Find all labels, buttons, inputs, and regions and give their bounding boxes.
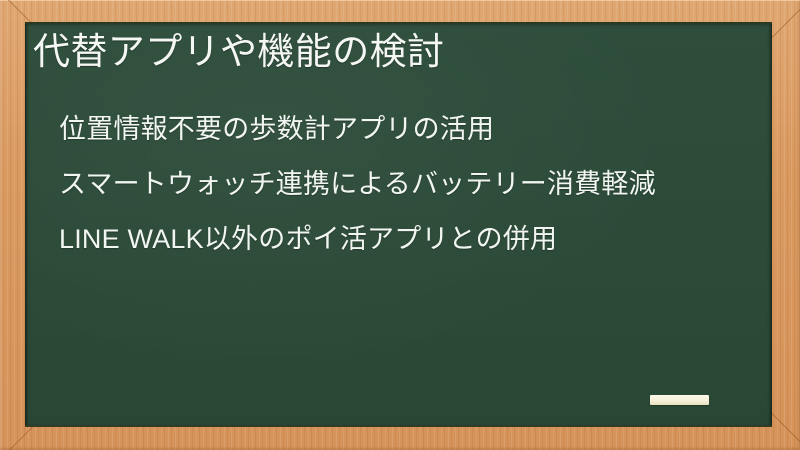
bullet-list: 位置情報不要の歩数計アプリの活用 スマートウォッチ連携によるバッテリー消費軽減 … [59, 102, 656, 267]
chalkboard-surface: 代替アプリや機能の検討 位置情報不要の歩数計アプリの活用 スマートウォッチ連携に… [25, 22, 772, 427]
list-item: スマートウォッチ連携によるバッテリー消費軽減 [59, 157, 656, 212]
list-item: 位置情報不要の歩数計アプリの活用 [59, 102, 656, 157]
list-item: LINE WALK以外のポイ活アプリとの併用 [59, 212, 656, 267]
chalkboard-slide: 代替アプリや機能の検討 位置情報不要の歩数計アプリの活用 スマートウォッチ連携に… [0, 0, 800, 450]
board-content: 代替アプリや機能の検討 位置情報不要の歩数計アプリの活用 スマートウォッチ連携に… [25, 22, 772, 427]
slide-title: 代替アプリや機能の検討 [33, 31, 444, 72]
chalk-stick-icon [650, 395, 709, 405]
